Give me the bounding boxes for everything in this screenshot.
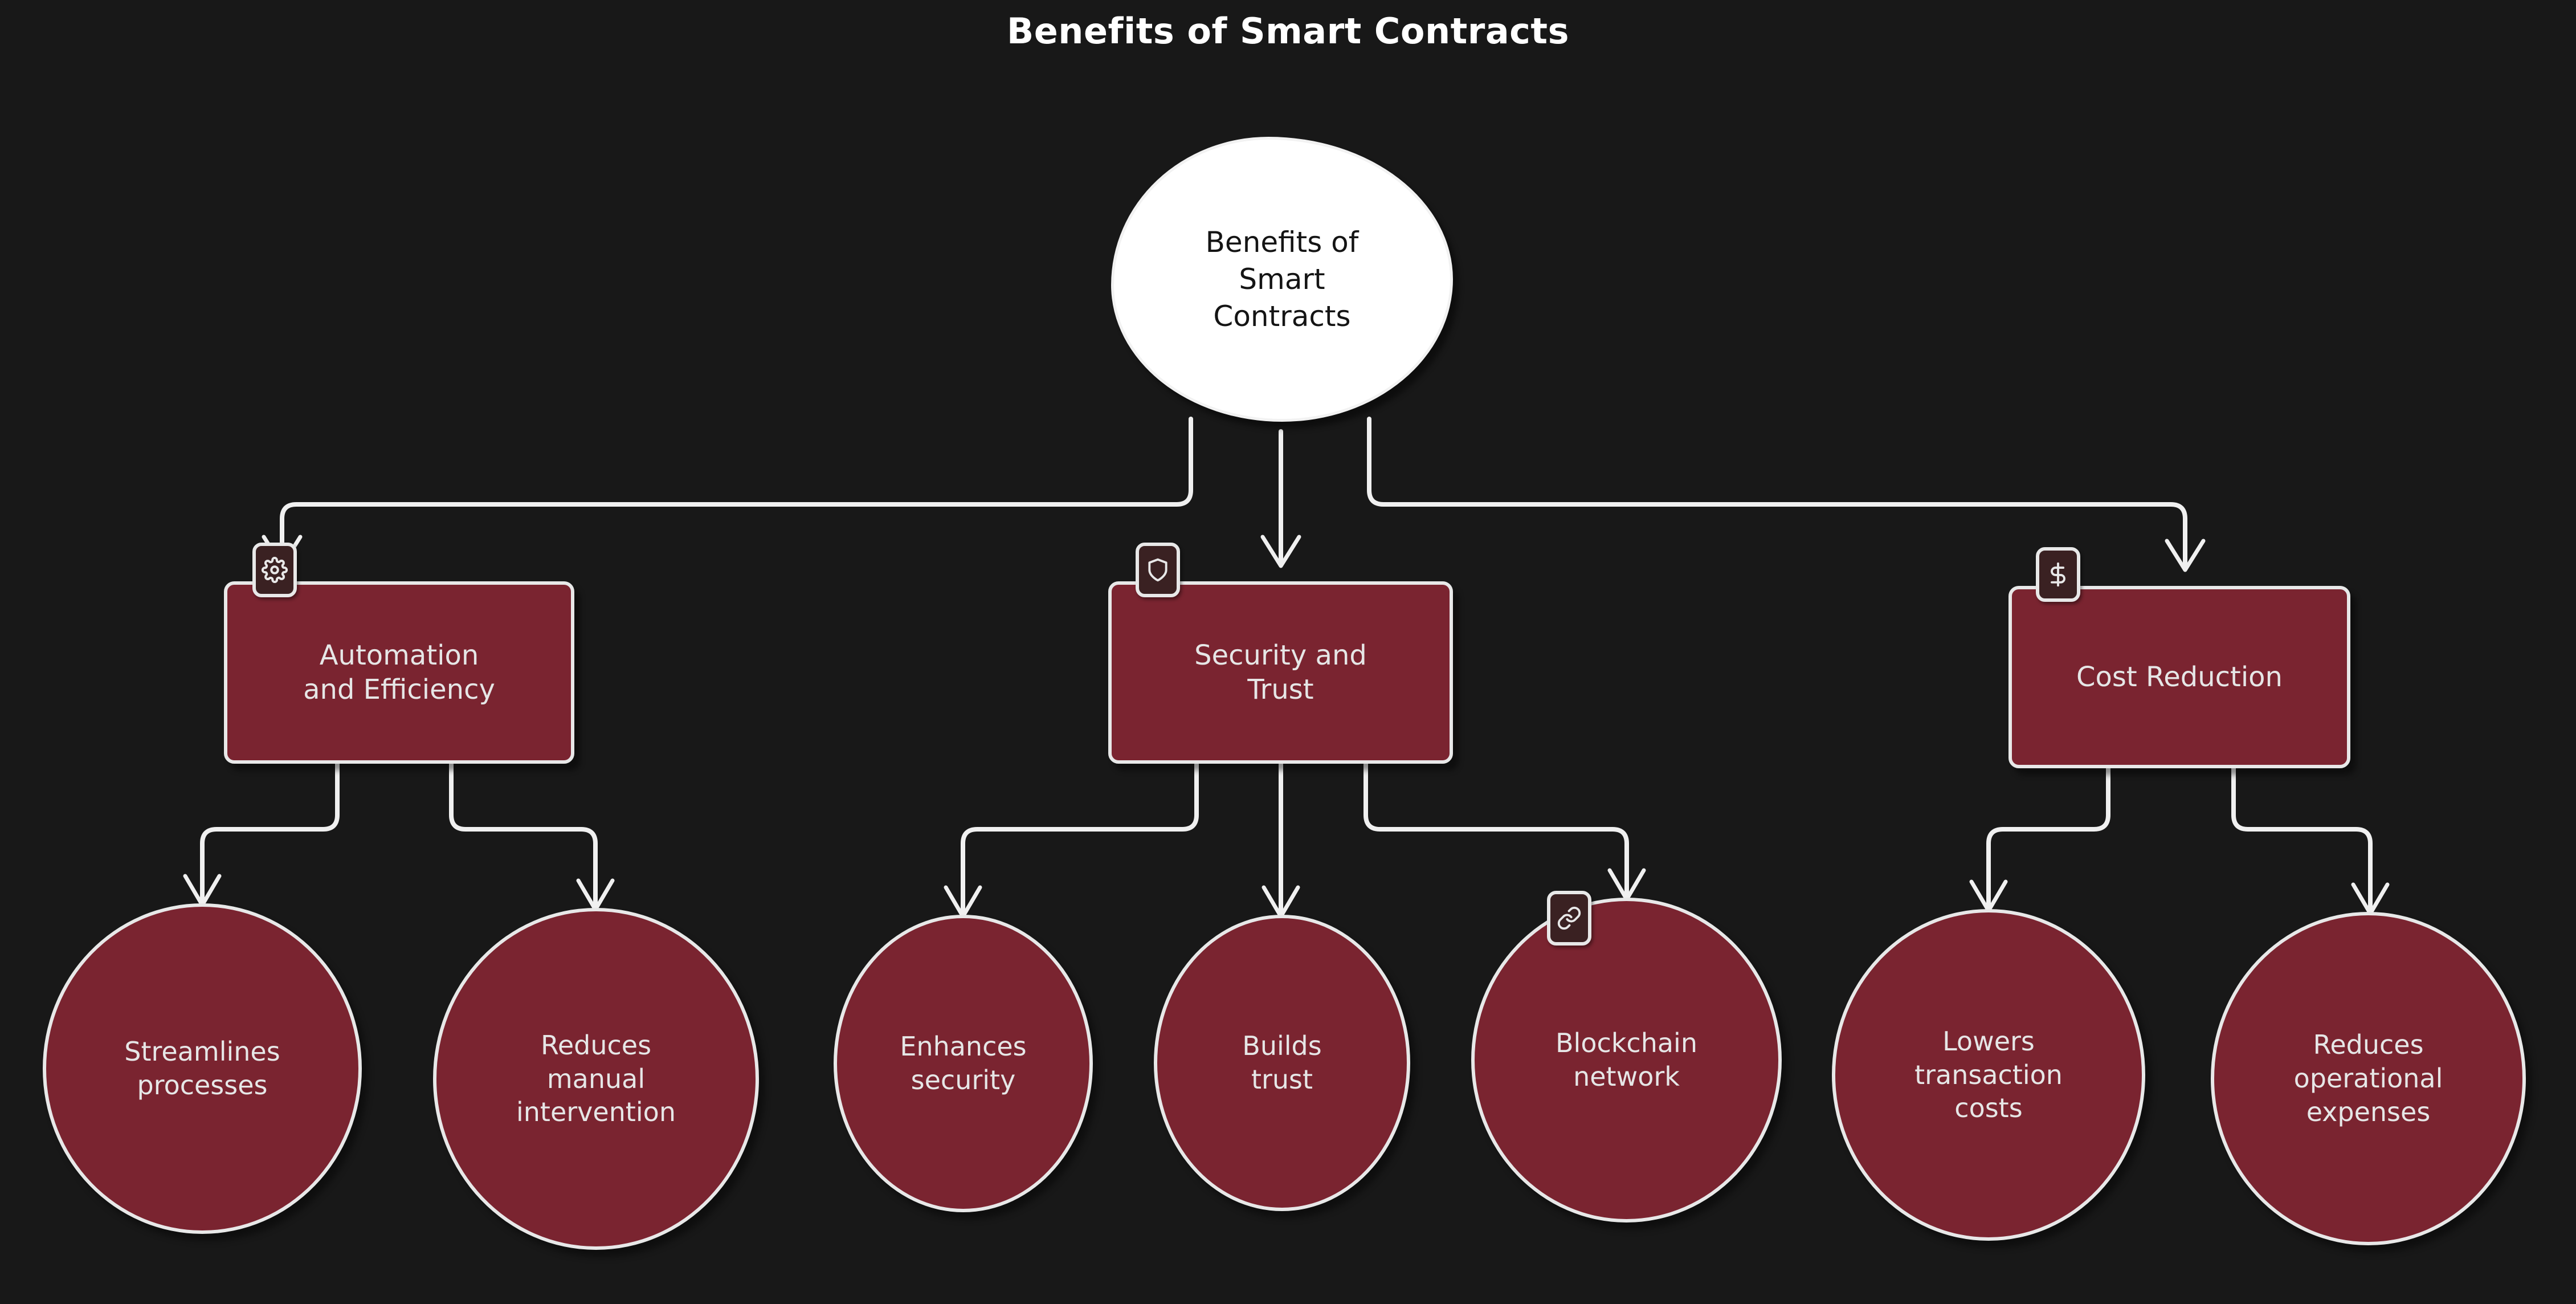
node-security-label: Security and Trust <box>1186 638 1375 707</box>
node-enhances-security-label: Enhances security <box>892 1030 1034 1097</box>
node-reduces-operational[interactable]: Reduces operational expenses <box>2211 912 2526 1245</box>
node-streamlines-label: Streamlines processes <box>116 1035 288 1102</box>
edge-root-automation <box>282 419 1191 561</box>
edge-root-cost <box>1369 419 2185 565</box>
node-automation-label: Automation and Efficiency <box>295 638 503 707</box>
node-root-label: Benefits of Smart Contracts <box>1198 224 1367 335</box>
node-automation[interactable]: Automation and Efficiency <box>224 581 574 764</box>
edge-security-enhances <box>963 764 1197 912</box>
edge-arrowhead-streamlines <box>185 876 219 905</box>
node-root[interactable]: Benefits of Smart Contracts <box>1111 137 1453 422</box>
edge-arrowhead-builds-trust <box>1264 887 1298 916</box>
shield-icon-badge[interactable] <box>1136 543 1180 597</box>
node-cost-label: Cost Reduction <box>2068 660 2291 694</box>
dollar-icon-badge[interactable] <box>2036 547 2080 602</box>
node-blockchain-network-label: Blockchain network <box>1548 1026 1705 1094</box>
edge-security-blockchain <box>1366 764 1627 895</box>
edge-cost-lowers <box>1989 768 2108 906</box>
shield-icon <box>1145 557 1170 582</box>
node-reduces-manual-label: Reduces manual intervention <box>508 1029 684 1130</box>
link-icon-badge[interactable] <box>1547 891 1591 946</box>
node-builds-trust-label: Builds trust <box>1234 1029 1329 1097</box>
link-icon <box>1557 906 1582 931</box>
node-reduces-manual[interactable]: Reduces manual intervention <box>433 908 759 1250</box>
node-cost[interactable]: Cost Reduction <box>2008 586 2350 768</box>
diagram-canvas: Benefits of Smart Contracts <box>0 0 2576 1304</box>
edge-arrowhead-security <box>1263 537 1299 566</box>
edge-arrowhead-cost <box>2167 541 2203 570</box>
node-security[interactable]: Security and Trust <box>1108 581 1453 764</box>
edge-arrowhead-lowers <box>1971 882 2006 911</box>
node-enhances-security[interactable]: Enhances security <box>834 915 1093 1212</box>
edge-arrowhead-enhances <box>946 887 980 916</box>
edge-automation-reduces-manual <box>451 764 595 905</box>
gear-icon <box>262 557 288 583</box>
gear-icon-badge[interactable] <box>252 543 297 597</box>
page-title: Benefits of Smart Contracts <box>0 10 2576 52</box>
node-reduces-operational-label: Reduces operational expenses <box>2286 1028 2451 1129</box>
edge-arrowhead-reduces-operational <box>2353 885 2387 914</box>
edge-arrowhead-blockchain <box>1610 870 1644 899</box>
dollar-icon <box>2046 562 2071 587</box>
node-blockchain-network[interactable]: Blockchain network <box>1471 898 1782 1222</box>
edge-automation-streamlines <box>202 764 337 900</box>
node-lowers-transaction[interactable]: Lowers transaction costs <box>1832 909 2145 1241</box>
edge-arrowhead-reduces-manual <box>578 881 613 910</box>
node-builds-trust[interactable]: Builds trust <box>1154 915 1410 1211</box>
node-lowers-transaction-label: Lowers transaction costs <box>1907 1025 2071 1126</box>
edge-cost-reduces-operational <box>2234 768 2370 909</box>
node-streamlines[interactable]: Streamlines processes <box>43 903 362 1234</box>
